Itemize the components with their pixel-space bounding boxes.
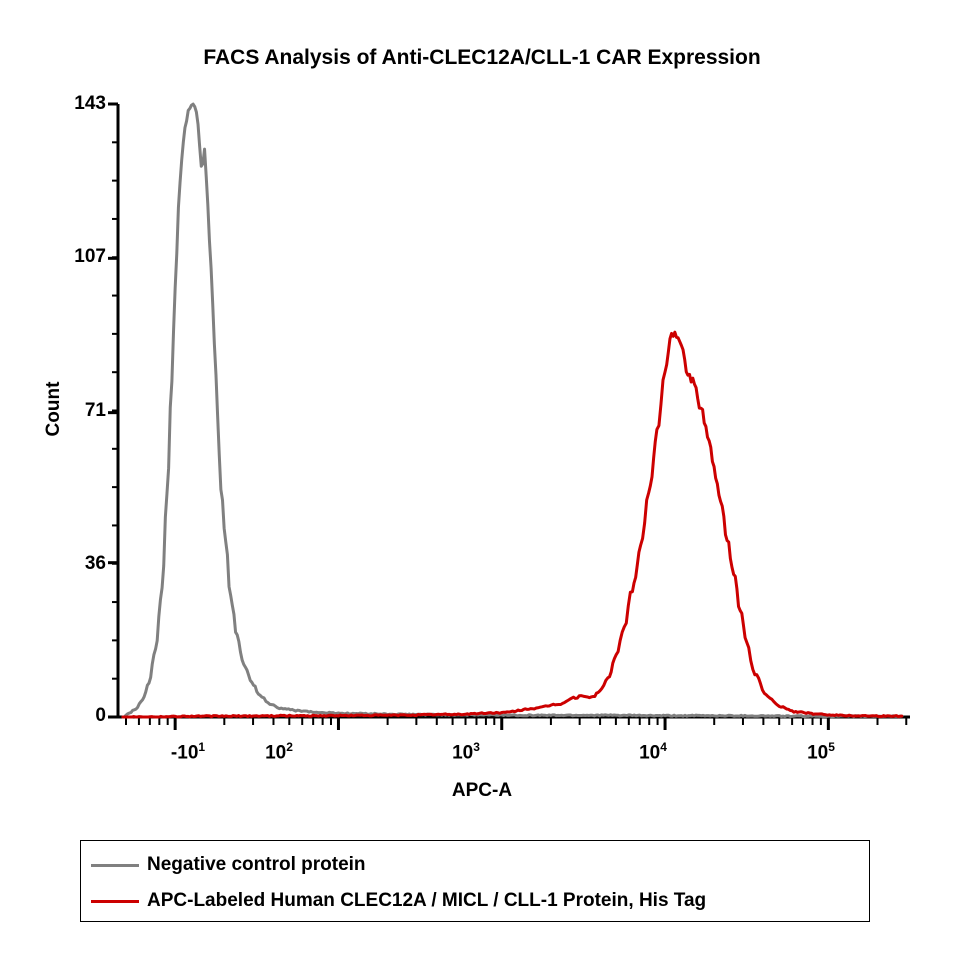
series-line-negative-control bbox=[123, 104, 902, 717]
legend-item-negative-control: Negative control protein bbox=[81, 847, 869, 883]
legend-label-apc-labeled: APC-Labeled Human CLEC12A / MICL / CLL-1… bbox=[147, 890, 706, 912]
axis-lines bbox=[110, 104, 910, 717]
legend-label-negative-control: Negative control protein bbox=[147, 854, 366, 876]
legend-color-swatch-gray bbox=[91, 864, 139, 867]
series-line-apc-labeled bbox=[123, 332, 902, 717]
legend-item-apc-labeled: APC-Labeled Human CLEC12A / MICL / CLL-1… bbox=[81, 883, 869, 919]
legend-color-swatch-red bbox=[91, 900, 139, 903]
facs-histogram-figure: FACS Analysis of Anti-CLEC12A/CLL-1 CAR … bbox=[0, 0, 964, 964]
legend-box: Negative control protein APC-Labeled Hum… bbox=[80, 840, 870, 922]
plot-area bbox=[0, 0, 964, 964]
